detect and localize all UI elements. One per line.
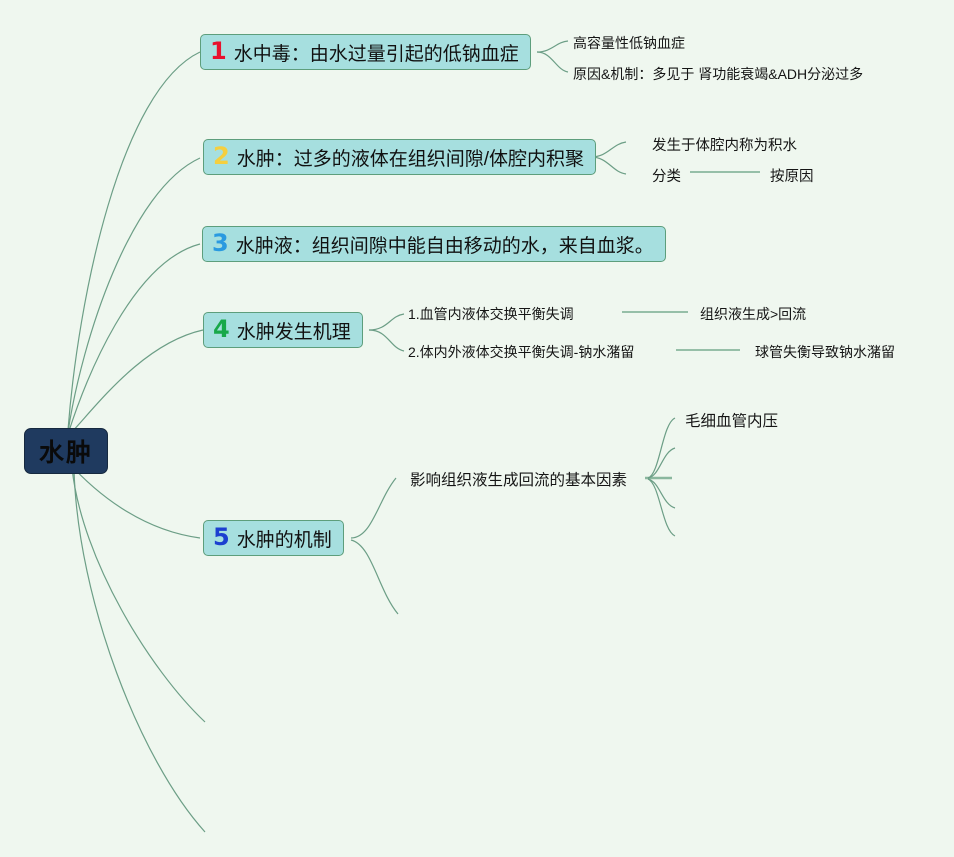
edge-branch-5-to-sub-2 [351, 540, 398, 614]
branch-number-3: 3 [212, 231, 229, 255]
leaf-4-2-1-label: 球管失衡导致钠水潴留 [755, 344, 895, 360]
leaf-5-1-1[interactable]: 毛细血管内压 [685, 409, 778, 431]
branch-number-5: 5 [213, 525, 230, 549]
leaf-1-1[interactable]: 高容量性低钠血症 [573, 33, 685, 53]
branch-node-5[interactable]: 5 水肿的机制 [203, 520, 344, 556]
branch-number-1: 1 [210, 39, 227, 63]
edge-factors-to-child-3 [648, 479, 675, 508]
leaf-1-2-label: 原因&机制：多见于 肾功能衰竭&ADH分泌过多 [573, 66, 863, 82]
branch-node-2[interactable]: 2 水肿：过多的液体在组织间隙/体腔内积聚 [203, 139, 596, 175]
edge-branch-1-to-leaf-2 [537, 52, 568, 72]
branch-number-2: 2 [213, 144, 230, 168]
mindmap-canvas: 水肿 1 水中毒：由水过量引起的低钠血症 高容量性低钠血症 原因&机制：多见于 … [0, 0, 954, 857]
edge-root-to-branch-4 [68, 330, 203, 436]
edge-branch-2-to-leaf-1 [591, 142, 626, 157]
leaf-1-2[interactable]: 原因&机制：多见于 肾功能衰竭&ADH分泌过多 [573, 64, 863, 84]
edge-factors-to-child-1 [648, 418, 675, 478]
edge-root-to-branch-3 [68, 244, 200, 434]
leaf-1-1-label: 高容量性低钠血症 [573, 35, 685, 51]
leaf-5-1-label: 影响组织液生成回流的基本因素 [410, 472, 627, 489]
leaf-2-2[interactable]: 分类 [652, 165, 681, 186]
edge-branch-5-to-sub-1 [351, 478, 396, 538]
leaf-4-2-label: 2.体内外液体交换平衡失调-钠水潴留 [408, 344, 634, 360]
leaf-4-1-1[interactable]: 组织液生成>回流 [700, 304, 806, 324]
root-node-label: 水肿 [39, 433, 93, 469]
edge-factors-to-child-2 [648, 448, 675, 478]
leaf-4-2-1[interactable]: 球管失衡导致钠水潴留 [755, 342, 895, 362]
branch-label-3: 水肿液：组织间隙中能自由移动的水，来自血浆。 [236, 231, 654, 258]
leaf-2-2-label: 分类 [652, 169, 681, 185]
branch-node-4[interactable]: 4 水肿发生机理 [203, 312, 363, 348]
leaf-2-1[interactable]: 发生于体腔内称为积水 [652, 134, 797, 155]
leaf-2-2-1-label: 按原因 [770, 169, 814, 185]
branch-label-1: 水中毒：由水过量引起的低钠血症 [234, 39, 519, 66]
root-node[interactable]: 水肿 [24, 428, 108, 474]
branch-label-5: 水肿的机制 [237, 525, 332, 552]
leaf-4-1-label: 1.血管内液体交换平衡失调 [408, 306, 574, 322]
edge-branch-4-to-leaf-2 [369, 330, 404, 351]
edge-root-to-branch-1 [68, 52, 200, 430]
edge-branch-2-to-leaf-2 [591, 157, 626, 174]
branch-node-3[interactable]: 3 水肿液：组织间隙中能自由移动的水，来自血浆。 [202, 226, 666, 262]
leaf-4-1-1-label: 组织液生成>回流 [700, 306, 806, 322]
edge-branch-1-to-leaf-1 [537, 41, 568, 52]
branch-label-4: 水肿发生机理 [237, 317, 351, 344]
connector-edges [0, 0, 954, 857]
leaf-5-1-1-label: 毛细血管内压 [685, 413, 778, 430]
leaf-5-1[interactable]: 影响组织液生成回流的基本因素 [410, 468, 627, 490]
edge-root-to-empty-branch-2 [74, 470, 205, 832]
edge-root-to-empty-branch-1 [72, 468, 205, 722]
leaf-2-2-1[interactable]: 按原因 [770, 165, 814, 186]
branch-label-2: 水肿：过多的液体在组织间隙/体腔内积聚 [237, 144, 584, 171]
leaf-2-1-label: 发生于体腔内称为积水 [652, 138, 797, 154]
edge-factors-to-child-4 [648, 479, 675, 536]
edge-branch-4-to-leaf-1 [369, 314, 404, 330]
leaf-4-1[interactable]: 1.血管内液体交换平衡失调 [408, 304, 574, 324]
branch-node-1[interactable]: 1 水中毒：由水过量引起的低钠血症 [200, 34, 531, 70]
leaf-4-2[interactable]: 2.体内外液体交换平衡失调-钠水潴留 [408, 342, 634, 362]
edge-root-to-branch-2 [68, 158, 200, 432]
branch-number-4: 4 [213, 317, 230, 341]
